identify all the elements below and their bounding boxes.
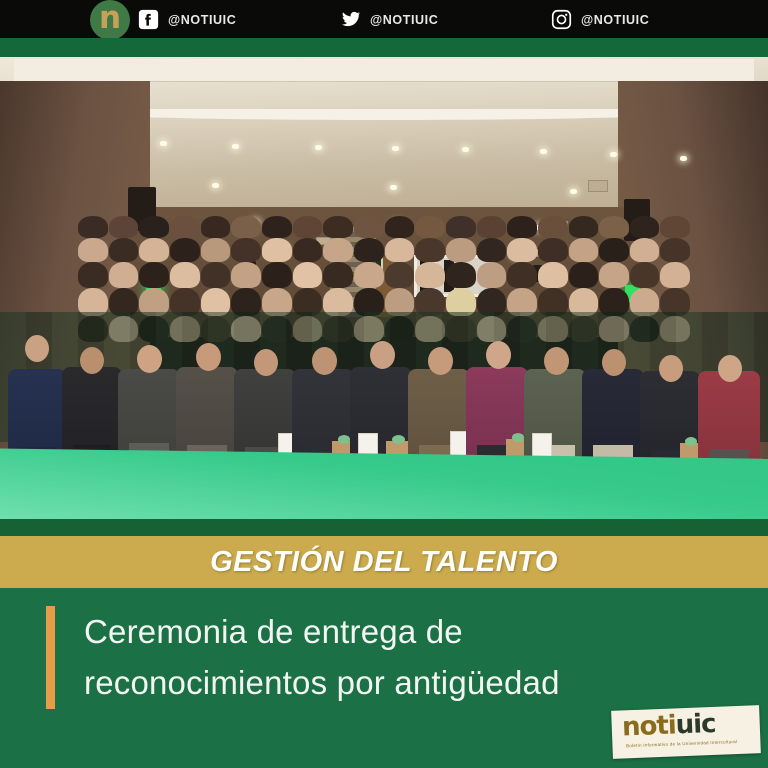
notiuic-brand-mark: n <box>88 0 132 41</box>
headline-line-1: Ceremonia de entrega de <box>84 606 624 657</box>
logo-wordmark: notiuic <box>622 710 753 741</box>
logo-word-noti: noti <box>621 710 676 742</box>
facebook-handle[interactable]: @NOTIUIC <box>168 13 236 27</box>
twitter-icon[interactable] <box>340 9 361 30</box>
header-green-strip <box>0 38 768 57</box>
accent-bar <box>46 606 55 709</box>
category-banner: GESTIÓN DEL TALENTO <box>0 536 768 588</box>
photo-bottom-green-band <box>0 519 768 536</box>
instagram-icon[interactable] <box>551 9 572 30</box>
instagram-handle[interactable]: @NOTIUIC <box>581 13 649 27</box>
headline-line-2: reconocimientos por antigüedad <box>84 657 624 708</box>
social-link-facebook[interactable]: @NOTIUIC <box>138 9 236 30</box>
logo-word-uic: uic <box>675 709 716 741</box>
social-link-instagram[interactable]: @NOTIUIC <box>551 9 649 30</box>
brand-logo-letter: n <box>99 3 121 34</box>
twitter-handle[interactable]: @NOTIUIC <box>370 13 438 27</box>
brand-circle: n <box>90 0 130 40</box>
ceiling-soffit <box>14 59 754 81</box>
event-photo <box>0 57 768 519</box>
facebook-icon[interactable] <box>138 9 159 30</box>
notiuic-footer-logo: notiuic Boletín Informativo de la Univer… <box>612 704 760 760</box>
category-label: GESTIÓN DEL TALENTO <box>210 546 558 579</box>
social-link-twitter[interactable]: @NOTIUIC <box>340 9 438 30</box>
social-header-bar: n @NOTIUIC @NOTIUIC @NOTIUIC <box>0 0 768 38</box>
page-title: Ceremonia de entrega de reconocimientos … <box>84 606 624 708</box>
